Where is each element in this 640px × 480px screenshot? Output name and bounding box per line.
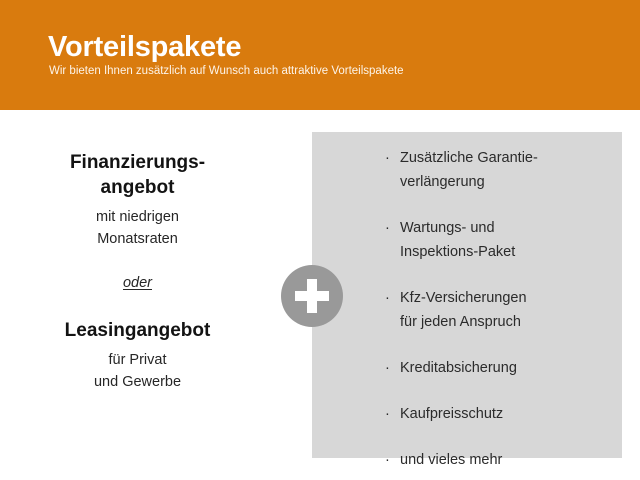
- benefit-text-line: Kfz-Versicherungen: [400, 286, 610, 310]
- benefit-text-line: verlängerung: [400, 170, 610, 194]
- bullet-icon: ·: [385, 402, 390, 426]
- benefit-item: · Kfz-Versicherungen für jeden Anspruch: [385, 286, 610, 334]
- bullet-icon: ·: [385, 356, 390, 380]
- benefit-text-line: und vieles mehr: [400, 448, 610, 472]
- bullet-icon: ·: [385, 286, 390, 310]
- offer-leasing-subtext-line-2: und Gewerbe: [25, 371, 250, 393]
- bullet-icon: ·: [385, 448, 390, 472]
- page-title: Vorteilspakete: [48, 30, 241, 64]
- benefits-list: · Zusätzliche Garantie- verlängerung · W…: [385, 146, 610, 472]
- offers-column: Finanzierungs- angebot mit niedrigen Mon…: [25, 150, 250, 393]
- benefit-text-line: Kaufpreisschutz: [400, 402, 610, 426]
- benefit-text-line: Zusätzliche Garantie-: [400, 146, 610, 170]
- offer-financing: Finanzierungs- angebot mit niedrigen Mon…: [25, 150, 250, 250]
- offer-leasing-heading-line-1: Leasingangebot: [25, 318, 250, 343]
- offer-leasing: Leasingangebot für Privat und Gewerbe: [25, 318, 250, 393]
- benefit-item: · Wartungs- und Inspektions-Paket: [385, 216, 610, 264]
- benefit-item: · Zusätzliche Garantie- verlängerung: [385, 146, 610, 194]
- header-band: Vorteilspakete Wir bieten Ihnen zusätzli…: [0, 0, 640, 110]
- offer-financing-heading-line-1: Finanzierungs-: [25, 150, 250, 175]
- offer-financing-subtext-line-2: Monatsraten: [25, 228, 250, 250]
- plus-badge: [281, 265, 343, 327]
- bullet-icon: ·: [385, 146, 390, 170]
- offer-financing-subtext: mit niedrigen Monatsraten: [25, 206, 250, 250]
- benefit-text-line: Inspektions-Paket: [400, 240, 610, 264]
- benefit-text-line: für jeden Anspruch: [400, 310, 610, 334]
- plus-icon: [281, 265, 343, 327]
- offer-financing-heading-line-2: angebot: [25, 175, 250, 200]
- page-subtitle: Wir bieten Ihnen zusätzlich auf Wunsch a…: [49, 64, 404, 79]
- benefit-item: · und vieles mehr: [385, 448, 610, 472]
- offer-separator-oder: oder: [25, 272, 250, 294]
- offer-financing-subtext-line-1: mit niedrigen: [25, 206, 250, 228]
- offer-leasing-heading: Leasingangebot: [25, 318, 250, 343]
- benefit-item: · Kreditabsicherung: [385, 356, 610, 380]
- offer-leasing-subtext: für Privat und Gewerbe: [25, 349, 250, 393]
- benefits-panel: · Zusätzliche Garantie- verlängerung · W…: [312, 132, 622, 458]
- bullet-icon: ·: [385, 216, 390, 240]
- slide-root: Vorteilspakete Wir bieten Ihnen zusätzli…: [0, 0, 640, 480]
- benefit-text-line: Kreditabsicherung: [400, 356, 610, 380]
- offer-financing-heading: Finanzierungs- angebot: [25, 150, 250, 200]
- offer-leasing-subtext-line-1: für Privat: [25, 349, 250, 371]
- benefit-text-line: Wartungs- und: [400, 216, 610, 240]
- benefit-item: · Kaufpreisschutz: [385, 402, 610, 426]
